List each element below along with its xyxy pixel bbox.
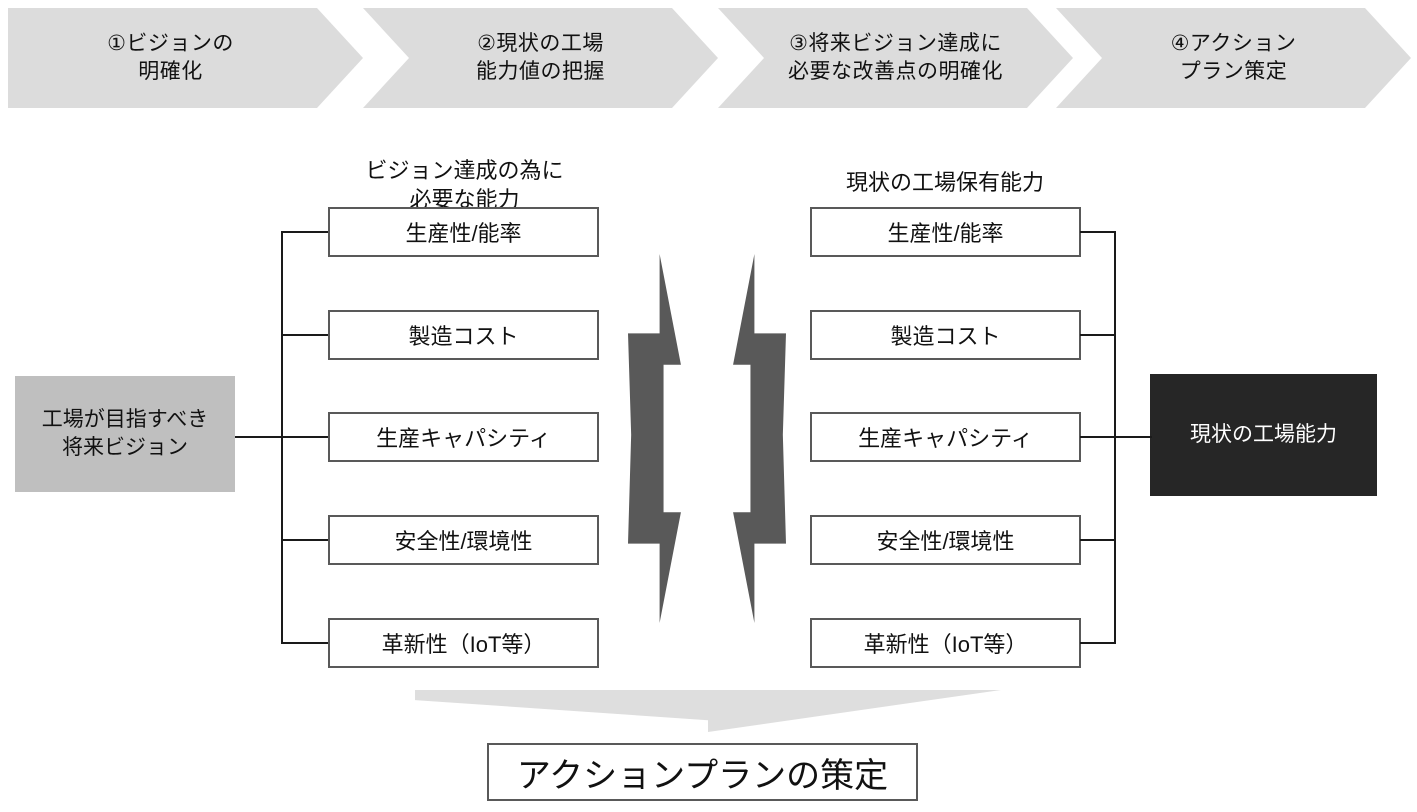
action-plan-box: アクションプランの策定	[487, 743, 918, 801]
process-step-3-label: ③将来ビジョン達成に 必要な改善点の明確化	[788, 30, 1003, 87]
left-capability-box-1: 生産性/能率	[328, 207, 599, 257]
right-capability-box-4: 安全性/環境性	[810, 515, 1081, 565]
left-bracket-stub-4	[281, 539, 329, 541]
right-capability-box-2: 製造コスト	[810, 310, 1081, 360]
right-capability-label-5: 革新性（IoT等）	[864, 627, 1028, 659]
right-bracket-stub-3	[1080, 436, 1116, 438]
left-column-caption: ビジョン達成の為に 必要な能力	[312, 126, 617, 215]
right-capability-label-4: 安全性/環境性	[876, 524, 1014, 556]
left-capability-label-4: 安全性/環境性	[394, 524, 532, 556]
current-capability-box: 現状の工場能力	[1150, 374, 1377, 496]
left-bracket-stub-3	[281, 436, 329, 438]
future-vision-label: 工場が目指すべき 将来ビジョン	[42, 406, 209, 463]
gap-label: ギャップ	[628, 355, 786, 525]
down-chevron-arrow	[415, 690, 1001, 732]
left-bracket-stub-1	[281, 231, 329, 233]
right-bracket-stub-2	[1080, 334, 1116, 336]
left-capability-box-2: 製造コスト	[328, 310, 599, 360]
process-step-1-label: ①ビジョンの 明確化	[107, 30, 234, 87]
right-capability-label-1: 生産性/能率	[887, 216, 1003, 248]
right-capability-box-1: 生産性/能率	[810, 207, 1081, 257]
left-column-caption-text: ビジョン達成の為に 必要な能力	[365, 158, 563, 213]
left-bracket-stub-2	[281, 334, 329, 336]
right-column-caption: 現状の工場保有能力	[790, 138, 1100, 197]
future-vision-box: 工場が目指すべき 将来ビジョン	[15, 376, 235, 492]
left-capability-box-4: 安全性/環境性	[328, 515, 599, 565]
process-step-2-label: ②現状の工場 能力値の把握	[476, 30, 605, 87]
right-bracket-stub-4	[1080, 539, 1116, 541]
right-capability-box-3: 生産キャパシティ	[810, 412, 1081, 462]
process-step-2: ②現状の工場 能力値の把握	[363, 8, 718, 108]
process-step-4: ④アクション プラン策定	[1056, 8, 1411, 108]
right-bracket-stub-5	[1080, 642, 1116, 644]
left-capability-label-1: 生産性/能率	[405, 216, 521, 248]
process-step-4-label: ④アクション プラン策定	[1171, 30, 1297, 87]
left-capability-box-5: 革新性（IoT等）	[328, 618, 599, 668]
right-capability-label-3: 生産キャパシティ	[858, 421, 1033, 453]
left-capability-label-2: 製造コスト	[408, 319, 518, 351]
diagram-canvas: ①ビジョンの 明確化 ②現状の工場 能力値の把握 ③将来ビジョン達成に 必要な改…	[0, 0, 1417, 812]
right-bracket-stub-1	[1080, 231, 1116, 233]
left-capability-label-3: 生産キャパシティ	[376, 421, 551, 453]
gap-label-text: ギャップ	[690, 376, 724, 504]
action-plan-label: アクションプランの策定	[517, 748, 888, 797]
current-capability-label: 現状の工場能力	[1190, 421, 1337, 449]
left-capability-box-3: 生産キャパシティ	[328, 412, 599, 462]
left-bracket-stub-5	[281, 642, 329, 644]
right-column-caption-text: 現状の工場保有能力	[846, 170, 1044, 195]
right-capability-box-5: 革新性（IoT等）	[810, 618, 1081, 668]
process-step-3: ③将来ビジョン達成に 必要な改善点の明確化	[718, 8, 1073, 108]
process-step-1: ①ビジョンの 明確化	[8, 8, 363, 108]
right-bracket-trunk	[1114, 436, 1152, 438]
right-capability-label-2: 製造コスト	[890, 319, 1000, 351]
left-capability-label-5: 革新性（IoT等）	[382, 627, 546, 659]
left-bracket-trunk	[235, 436, 283, 438]
